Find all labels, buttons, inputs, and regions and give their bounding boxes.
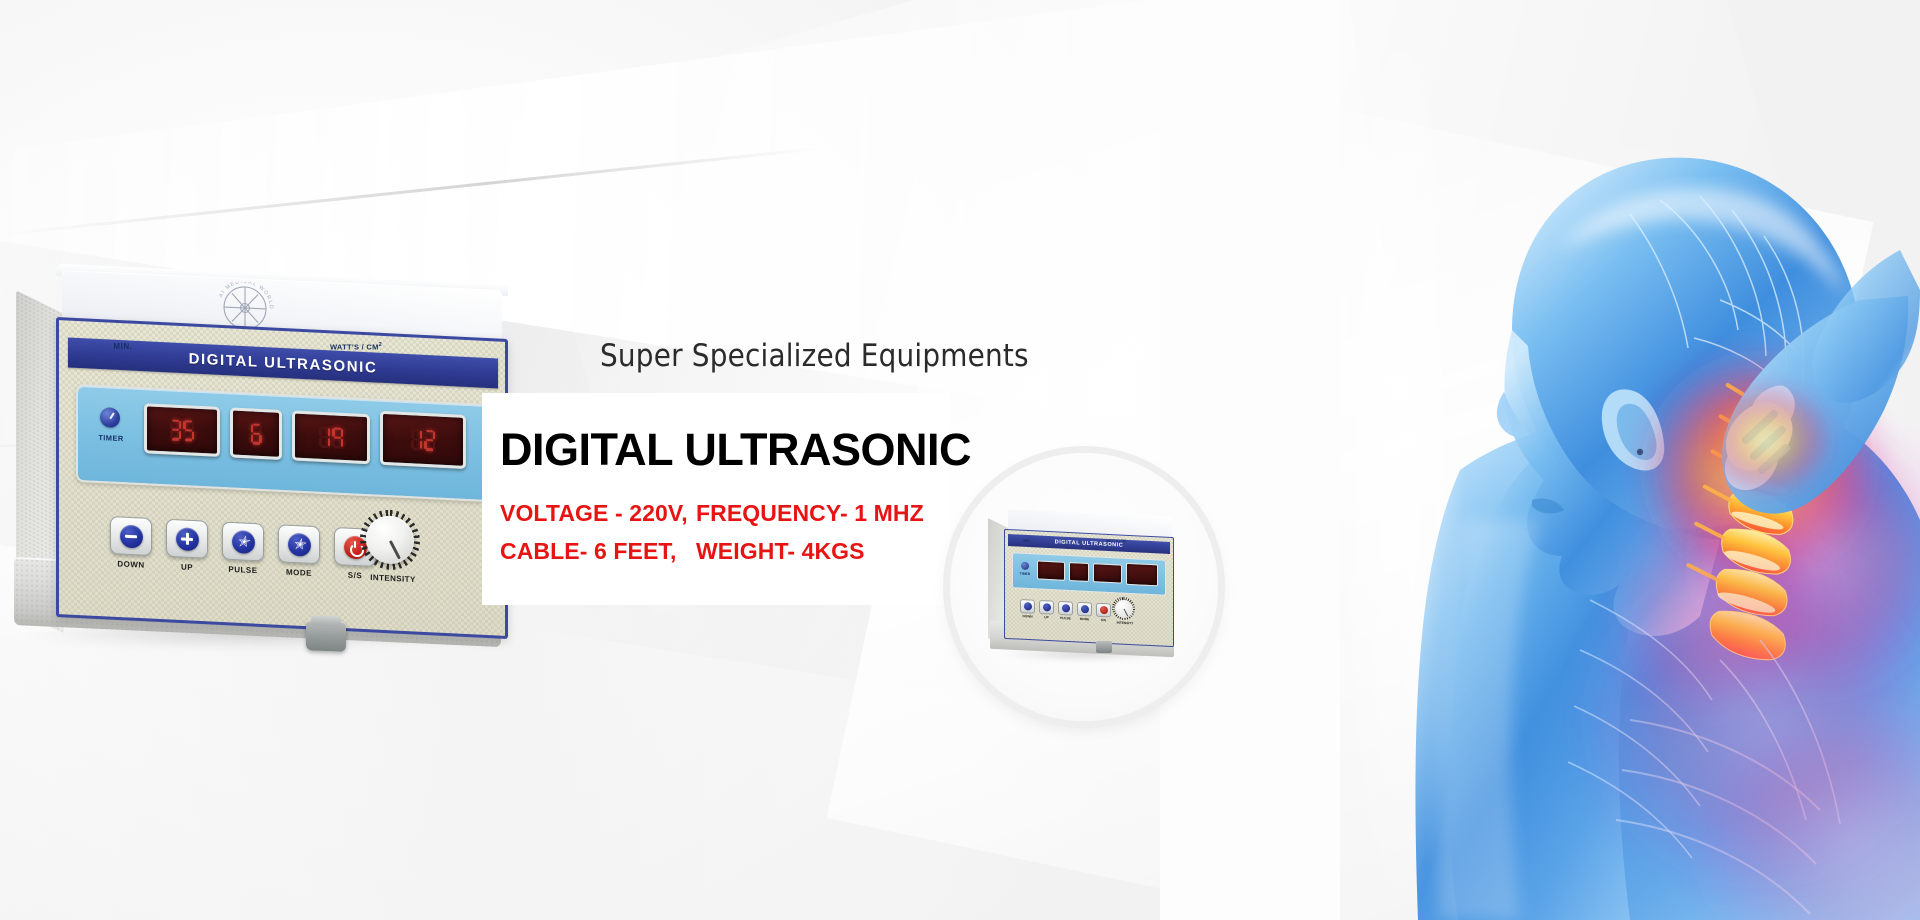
- page-title: DIGITAL ULTRASONIC: [500, 424, 971, 476]
- anatomy-figure: [1160, 0, 1920, 920]
- star-icon: ✭: [288, 532, 311, 556]
- inset-start-stop-label: S/S: [1096, 618, 1111, 623]
- knob-ring: [360, 508, 420, 571]
- timer-label: TIMER: [90, 433, 132, 444]
- inset-knob-group[interactable]: INTENSITY: [1112, 596, 1138, 625]
- inset-pulse-label: PULSE: [1058, 616, 1073, 621]
- inset-watts-label: WATT'S / CM: [1098, 539, 1134, 543]
- inset-mode-display: [1069, 562, 1089, 582]
- inset-pulse-button[interactable]: [1058, 601, 1073, 616]
- intensity-display: [380, 411, 466, 469]
- star-icon: [1062, 604, 1070, 612]
- spec-weight: WEIGHT- 4KGS: [696, 538, 865, 565]
- mode-button[interactable]: ✭: [278, 524, 320, 564]
- spec-row: VOLTAGE - 220V, FREQUENCY- 1 MHZ: [500, 500, 924, 527]
- inset-mode-button[interactable]: [1077, 602, 1092, 617]
- device-display-panel: TIMER: [76, 384, 490, 502]
- mode-display: [230, 407, 282, 460]
- inset-down-label: DOWN: [1020, 614, 1035, 619]
- inset-up-label: UP: [1039, 615, 1054, 620]
- star-icon: ✭: [232, 529, 255, 553]
- ultrasonic-device: AI MEDICAL WORLD DIGITAL ULTRASONIC TIME…: [10, 272, 510, 672]
- plus-icon: [1043, 603, 1051, 611]
- probe-connector: [306, 620, 346, 652]
- inset-pulse-display: [1093, 563, 1122, 583]
- timer-display: [144, 403, 220, 457]
- inset-device: DIGITAL ULTRASONIC TIMER MIN. WATT'S / C…: [986, 511, 1176, 671]
- timer-icon: [100, 407, 120, 428]
- watts-label: WATT'S / CM2: [310, 342, 402, 352]
- power-icon: [1100, 606, 1108, 614]
- inset-intensity-display: [1126, 563, 1158, 587]
- spec-voltage: VOLTAGE - 220V,: [500, 500, 696, 527]
- device-title-text: DIGITAL ULTRASONIC: [189, 350, 378, 376]
- inset-down-button[interactable]: [1020, 599, 1035, 614]
- eyebrow-heading: Super Specialized Equipments: [600, 338, 1029, 374]
- inset-display-panel: TIMER: [1012, 552, 1166, 596]
- spec-frequency: FREQUENCY- 1 MHZ: [696, 500, 924, 527]
- inset-mode-label: MODE: [1077, 617, 1092, 622]
- inset-intensity-knob[interactable]: [1115, 599, 1133, 618]
- spec-list: VOLTAGE - 220V, FREQUENCY- 1 MHZ CABLE- …: [500, 500, 924, 576]
- star-icon: [1081, 605, 1089, 613]
- intensity-knob-group[interactable]: INTENSITY: [360, 508, 426, 584]
- inset-probe-connector: [1096, 641, 1112, 653]
- spec-row: CABLE- 6 FEET, WEIGHT- 4KGS: [500, 538, 924, 565]
- minutes-label: MIN.: [88, 342, 158, 351]
- inset-up-button[interactable]: [1039, 600, 1054, 615]
- pulse-display: [292, 410, 370, 464]
- inset-minutes-label: MIN.: [1014, 539, 1040, 543]
- pulse-button[interactable]: ✭: [222, 521, 264, 561]
- minus-icon: [120, 524, 143, 548]
- plus-icon: [176, 527, 199, 551]
- intensity-knob[interactable]: [366, 515, 414, 565]
- inset-start-stop-button[interactable]: [1096, 603, 1111, 618]
- inset-timer-label: TIMER: [1015, 571, 1035, 576]
- banner-stage: AI MEDICAL WORLD DIGITAL ULTRASONIC TIME…: [0, 0, 1920, 920]
- spec-cable: CABLE- 6 FEET,: [500, 538, 696, 565]
- down-button[interactable]: [110, 516, 152, 556]
- minus-icon: [1024, 602, 1032, 610]
- up-button[interactable]: [166, 519, 208, 559]
- inset-timer-display: [1037, 560, 1065, 580]
- product-inset-circle: DIGITAL ULTRASONIC TIMER MIN. WATT'S / C…: [950, 453, 1218, 721]
- timer-icon: [1021, 562, 1029, 570]
